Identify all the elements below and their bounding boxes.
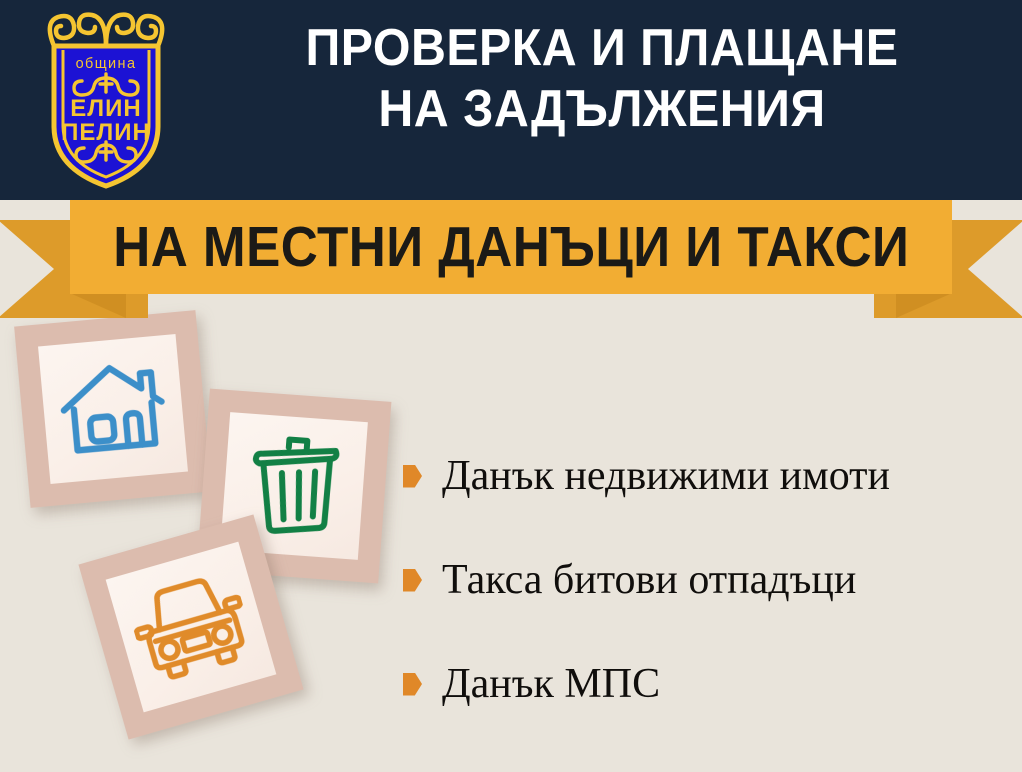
car-front-icon (124, 565, 258, 688)
poster-root: община ЕЛИН ПЕЛИН ПРОВЕРКА И ПЛАЩАНЕ НА … (0, 0, 1022, 772)
arrow-bullet-icon (403, 465, 422, 488)
list-item-label: Данък недвижими имоти (442, 455, 890, 497)
ribbon-banner: НА МЕСТНИ ДАНЪЦИ И ТАКСИ (0, 196, 1022, 321)
ribbon-band: НА МЕСТНИ ДАНЪЦИ И ТАКСИ (70, 200, 952, 294)
list-item[interactable]: Такса битови отпадъци (403, 528, 1003, 632)
list-item[interactable]: Данък недвижими имоти (403, 424, 1003, 528)
municipality-logo: община ЕЛИН ПЕЛИН (22, 8, 190, 193)
house-icon (55, 354, 172, 463)
list-item-label: Такса битови отпадъци (442, 559, 856, 601)
list-item-label: Данък МПС (442, 663, 660, 705)
logo-line-obshtina: община (76, 56, 137, 72)
tax-type-list: Данък недвижими имоти Такса битови отпад… (403, 424, 1003, 736)
header-bar: община ЕЛИН ПЕЛИН ПРОВЕРКА И ПЛАЩАНЕ НА … (0, 0, 1022, 200)
stamp-face (38, 334, 188, 484)
stamp-card-property-tax (14, 310, 212, 508)
ribbon-text: НА МЕСТНИ ДАНЪЦИ И ТАКСИ (113, 214, 909, 280)
list-item[interactable]: Данък МПС (403, 632, 1003, 736)
trash-can-icon (242, 431, 345, 542)
arrow-bullet-icon (403, 569, 422, 592)
logo-line-pelin: ПЕЛИН (61, 119, 151, 146)
logo-line-elin: ЕЛИН (70, 95, 141, 122)
page-title: ПРОВЕРКА И ПЛАЩАНЕ НА ЗАДЪЛЖЕНИЯ (224, 18, 979, 140)
arrow-bullet-icon (403, 673, 422, 696)
